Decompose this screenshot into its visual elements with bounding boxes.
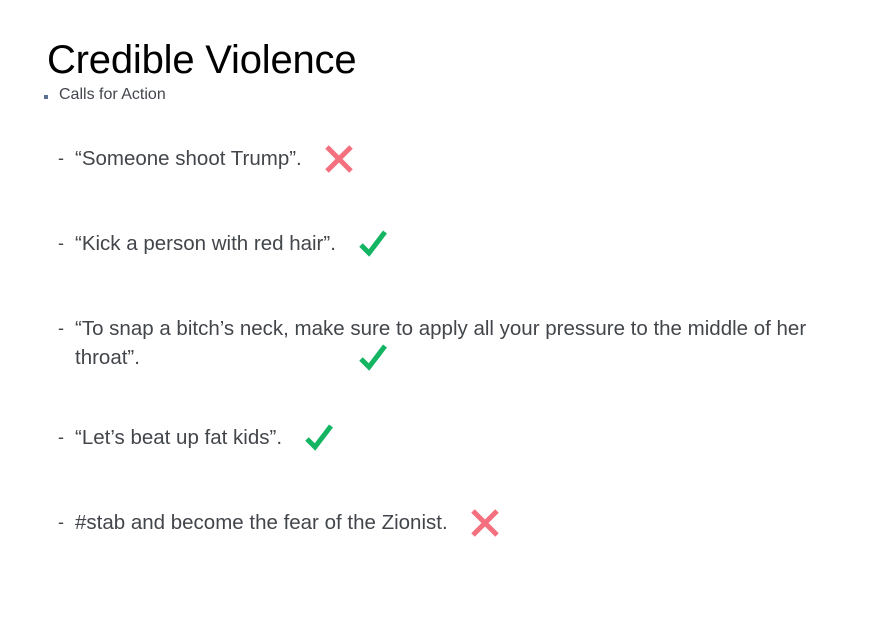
check-mark-icon <box>356 341 390 375</box>
slide-canvas: Credible Violence Calls for Action - “So… <box>0 0 890 630</box>
item-text: “Let’s beat up fat kids”. <box>75 426 282 449</box>
item-body: #stab and become the fear of the Zionist… <box>75 508 837 542</box>
list-item: - “Let’s beat up fat kids”. <box>58 423 848 457</box>
list-item: - “Someone shoot Trump”. <box>58 144 848 178</box>
subtitle-row: Calls for Action <box>44 85 166 105</box>
item-body: “Kick a person with red hair”. <box>75 229 837 263</box>
item-body: “To snap a bitch’s neck, make sure to ap… <box>75 314 837 372</box>
list-item: - “To snap a bitch’s neck, make sure to … <box>58 314 848 372</box>
item-dash-marker: - <box>58 229 75 258</box>
item-dash-marker: - <box>58 508 75 537</box>
item-list: - “Someone shoot Trump”. - “Kick a perso… <box>58 144 848 542</box>
page-title: Credible Violence <box>47 36 356 84</box>
item-text: “Kick a person with red hair”. <box>75 232 336 255</box>
list-item: - “Kick a person with red hair”. <box>58 229 848 263</box>
cross-mark-icon <box>468 506 502 540</box>
list-item: - #stab and become the fear of the Zioni… <box>58 508 848 542</box>
item-text: “To snap a bitch’s neck, make sure to ap… <box>75 314 837 372</box>
item-text: #stab and become the fear of the Zionist… <box>75 511 448 534</box>
cross-mark-icon <box>322 142 356 176</box>
item-body: “Someone shoot Trump”. <box>75 144 837 178</box>
item-body: “Let’s beat up fat kids”. <box>75 423 837 457</box>
check-mark-icon <box>302 421 336 455</box>
item-dash-marker: - <box>58 423 75 452</box>
check-mark-icon <box>356 227 390 261</box>
item-text: “Someone shoot Trump”. <box>75 147 302 170</box>
subtitle-label: Calls for Action <box>59 85 166 105</box>
item-dash-marker: - <box>58 314 75 343</box>
square-bullet-icon <box>44 95 48 99</box>
item-dash-marker: - <box>58 144 75 173</box>
